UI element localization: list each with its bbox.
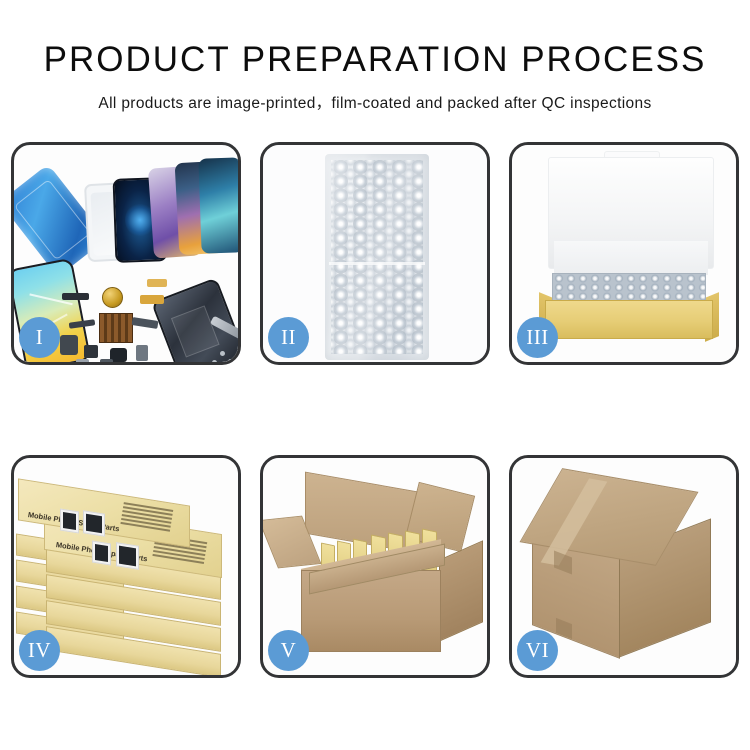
step-panel-1: I xyxy=(11,142,241,365)
camera-module-part xyxy=(60,335,78,355)
vibration-motor-part xyxy=(102,287,123,308)
box-phone-image xyxy=(60,508,79,533)
step-panel-4: Mobile Phone Spare Parts Mobile Phone Sp… xyxy=(11,455,241,678)
step-badge-5: V xyxy=(268,630,309,671)
step-panel-2: II xyxy=(260,142,490,365)
phone-back-housing xyxy=(151,277,238,362)
page-title: PRODUCT PREPARATION PROCESS xyxy=(0,42,750,77)
box-phone-image xyxy=(83,510,105,536)
connector-part xyxy=(84,345,98,358)
header: PRODUCT PREPARATION PROCESS All products… xyxy=(0,0,750,113)
screw-part xyxy=(220,351,225,356)
screw-part xyxy=(228,359,233,362)
plastic-sheen xyxy=(325,154,429,360)
step-badge-4: IV xyxy=(19,630,60,671)
step-panel-6: VI xyxy=(509,455,739,678)
infographic-page: PRODUCT PREPARATION PROCESS All products… xyxy=(0,0,750,750)
small-bracket-part xyxy=(100,359,113,362)
step-badge-3: III xyxy=(517,317,558,358)
foam-padding xyxy=(554,241,708,275)
phone-screen-teal xyxy=(198,157,238,253)
step-badge-2: II xyxy=(268,317,309,358)
step-panel-3: III xyxy=(509,142,739,365)
button-part xyxy=(136,345,148,361)
process-step-grid: I II xyxy=(11,142,739,682)
box-tray-front xyxy=(545,300,713,339)
circuit-chip-part xyxy=(99,313,133,343)
ribbon-cable-part xyxy=(132,317,159,329)
gold-connector-part xyxy=(147,279,167,287)
screw-part xyxy=(212,360,217,362)
bubble-wrap-pouch xyxy=(325,154,429,360)
step-badge-1: I xyxy=(19,317,60,358)
earpiece-speaker-part xyxy=(62,293,89,300)
step-badge-6: VI xyxy=(517,630,558,671)
box-phone-image xyxy=(92,540,111,565)
sim-tray-part xyxy=(76,359,89,362)
bubble-wrapped-contents xyxy=(552,273,706,303)
step-panel-5: V xyxy=(260,455,490,678)
page-subtitle: All products are image-printed，film-coat… xyxy=(0,91,750,113)
gold-flex-part xyxy=(140,295,164,304)
box-phone-image xyxy=(116,542,139,570)
